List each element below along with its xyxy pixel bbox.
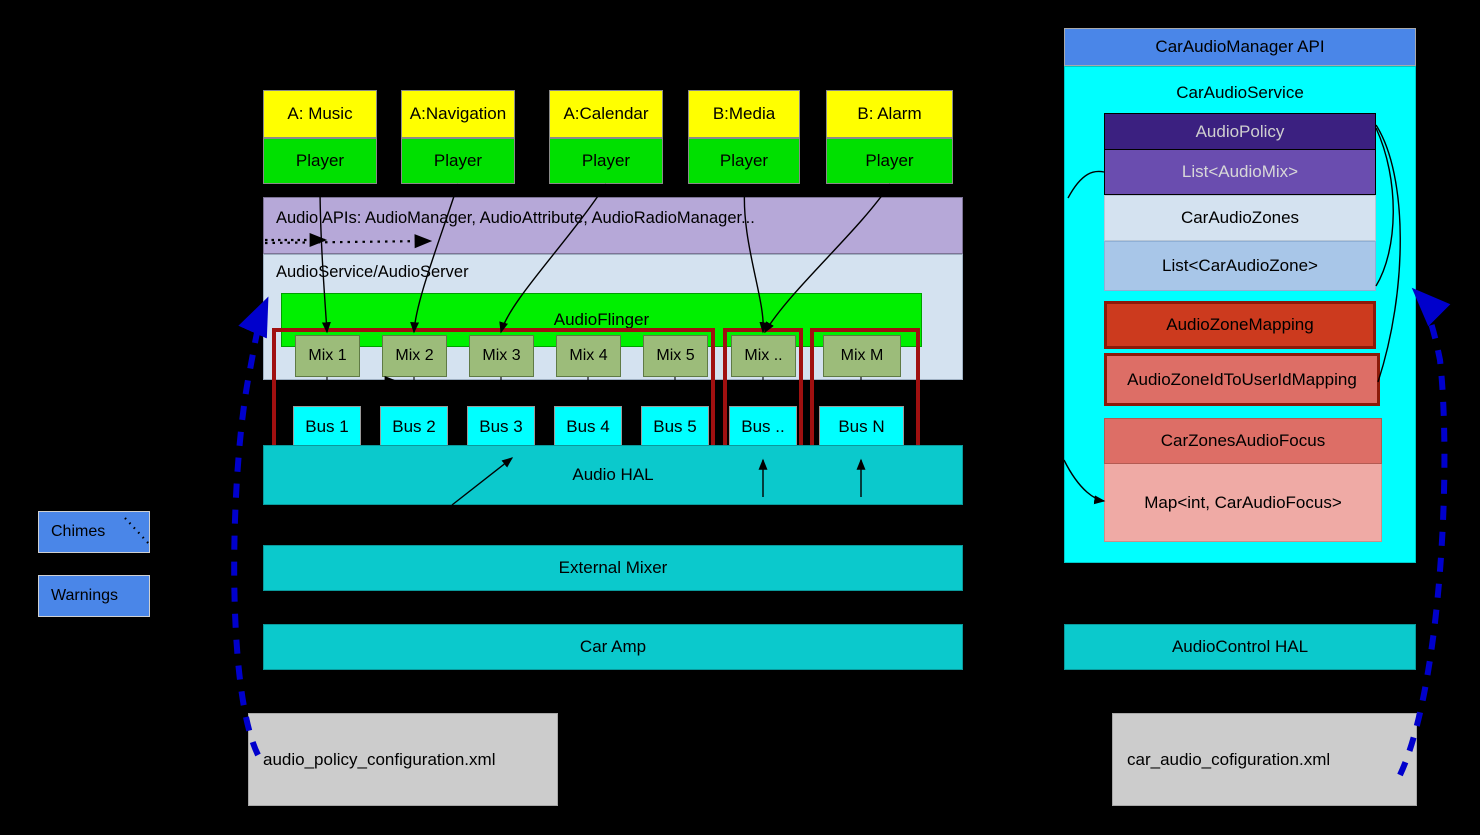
audio-policy-block: AudioPolicy [1104, 113, 1376, 150]
bus-2: Bus 3 [467, 406, 535, 448]
bus-3: Bus 4 [554, 406, 622, 448]
bus-6: Bus N [819, 406, 904, 448]
car-audio-configuration-xml: car_audio_cofiguration.xml [1112, 713, 1417, 806]
mix-0: Mix 1 [295, 335, 360, 377]
mix-5: Mix .. [731, 335, 796, 377]
audio-hal-block: Audio HAL [263, 445, 963, 505]
audio-apis-bar: Audio APIs: AudioManager, AudioAttribute… [263, 197, 963, 254]
audio-zone-mapping-block: AudioZoneMapping [1104, 301, 1376, 349]
audio-service-label: AudioService/AudioServer [276, 263, 469, 282]
audio-policy-configuration-xml: audio_policy_configuration.xml [248, 713, 558, 806]
app-title-0: A: Music [263, 90, 377, 138]
car-audio-manager-api-header: CarAudioManager API [1064, 28, 1416, 66]
car-audio-service-label: CarAudioService [1065, 83, 1415, 103]
audio-control-hal-block: AudioControl HAL [1064, 624, 1416, 670]
audio-policy-xml-dashed-arrow [234, 302, 266, 755]
app-player-1: Player [401, 138, 515, 184]
app-player-0: Player [263, 138, 377, 184]
app-player-4: Player [826, 138, 953, 184]
mix-6: Mix M [823, 335, 901, 377]
car-audio-zone-list-block: List<CarAudioZone> [1104, 241, 1376, 291]
app-player-3: Player [688, 138, 800, 184]
app-title-3: B:Media [688, 90, 800, 138]
bus-4: Bus 5 [641, 406, 709, 448]
car-zones-audio-focus-block: CarZonesAudioFocus [1104, 418, 1382, 464]
app-title-2: A:Calendar [549, 90, 663, 138]
car-amp-block: Car Amp [263, 624, 963, 670]
bus-1: Bus 2 [380, 406, 448, 448]
mix-1: Mix 2 [382, 335, 447, 377]
mix-2: Mix 3 [469, 335, 534, 377]
mix-3: Mix 4 [556, 335, 621, 377]
bus-0: Bus 1 [293, 406, 361, 448]
audio-zone-id-to-user-id-mapping-block: AudioZoneIdToUserIdMapping [1104, 353, 1380, 406]
app-title-4: B: Alarm [826, 90, 953, 138]
external-mixer-block: External Mixer [263, 545, 963, 591]
bus-5: Bus .. [729, 406, 797, 448]
mix-4: Mix 5 [643, 335, 708, 377]
car-audio-focus-map-block: Map<int, CarAudioFocus> [1104, 464, 1382, 542]
warnings-box: Warnings [38, 575, 150, 617]
audio-apis-label: Audio APIs: AudioManager, AudioAttribute… [276, 209, 755, 228]
audio-mix-list-block: List<AudioMix> [1104, 150, 1376, 195]
app-title-1: A:Navigation [401, 90, 515, 138]
chimes-box: Chimes [38, 511, 150, 553]
app-player-2: Player [549, 138, 663, 184]
car-audio-zones-block: CarAudioZones [1104, 195, 1376, 241]
